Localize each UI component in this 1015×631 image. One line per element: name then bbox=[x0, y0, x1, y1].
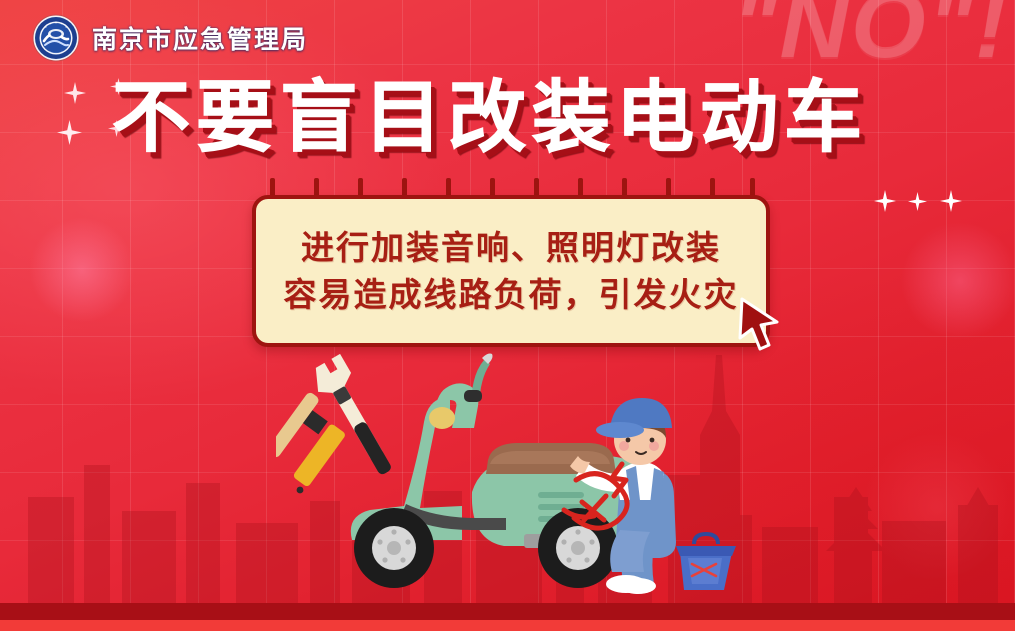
scooter-front-wheel bbox=[354, 508, 434, 588]
background-glow-left bbox=[28, 218, 136, 322]
background-glow-lower-right bbox=[862, 432, 1012, 582]
no-watermark-text: "NO"! bbox=[732, 0, 1009, 80]
sparkle-icon bbox=[908, 192, 927, 211]
page-title: 不要盲目改装电动车 bbox=[112, 79, 868, 157]
bottom-bright-band bbox=[0, 620, 1015, 631]
header: 南京市应急管理局 bbox=[32, 14, 308, 62]
message-card-body: 进行加装音响、照明灯改装 容易造成线路负荷，引发火灾 bbox=[252, 195, 770, 347]
organization-name: 南京市应急管理局 bbox=[92, 20, 308, 56]
message-card: 进行加装音响、照明灯改装 容易造成线路负荷，引发火灾 bbox=[252, 178, 770, 347]
bottom-dark-band bbox=[0, 603, 1015, 620]
scooter-modification-illustration bbox=[276, 352, 746, 614]
background-glow-right bbox=[900, 222, 1015, 340]
electric-scooter-icon bbox=[351, 354, 654, 589]
sparkle-icon bbox=[57, 120, 82, 145]
poster-canvas: "NO"! bbox=[0, 0, 1015, 631]
sparkle-icon bbox=[64, 82, 86, 104]
sparkle-icon bbox=[874, 190, 896, 212]
message-line-1: 进行加装音响、照明灯改装 bbox=[274, 225, 748, 272]
nanjing-emergency-management-emblem-icon bbox=[32, 14, 80, 62]
screwdriver-icon bbox=[276, 391, 346, 493]
message-line-2: 容易造成线路负荷，引发火灾 bbox=[274, 272, 748, 319]
card-pin-row bbox=[252, 178, 770, 195]
toolbox-icon bbox=[676, 534, 736, 590]
sparkle-icon bbox=[940, 190, 962, 212]
